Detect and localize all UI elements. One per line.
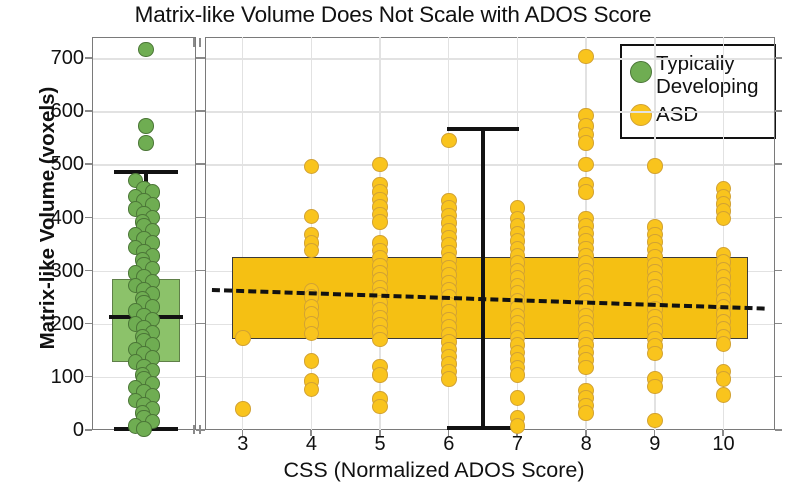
y-tick-label: 700: [22, 48, 84, 68]
gridline-horizontal: [205, 164, 775, 165]
chart-title: Matrix-like Volume Does Not Scale with A…: [0, 2, 786, 28]
x-tick-label: 3: [223, 434, 263, 454]
y-tick-mark: [198, 163, 205, 165]
data-point-asd: [372, 367, 388, 383]
data-point-asd: [304, 209, 320, 225]
data-point-td: [138, 118, 154, 134]
data-point-td: [138, 135, 154, 151]
data-point-asd: [304, 382, 320, 398]
data-point-asd: [441, 133, 457, 149]
y-tick-mark: [775, 110, 782, 112]
y-tick-mark: [198, 57, 205, 59]
y-tick-mark: [775, 163, 782, 165]
x-tick-label: 8: [566, 434, 606, 454]
legend-label: ASD: [656, 103, 698, 126]
y-tick-mark: [775, 217, 782, 219]
legend-swatch-yellow-icon: [630, 104, 652, 126]
data-point-asd: [578, 405, 594, 421]
gridline-horizontal: [205, 377, 775, 378]
y-tick-mark: [85, 110, 92, 112]
x-tick-label: 9: [635, 434, 675, 454]
x-tick-mark: [722, 430, 723, 436]
whisker-cap-asd: [447, 127, 519, 131]
y-tick-label: 200: [22, 314, 84, 334]
x-tick-mark: [654, 430, 655, 436]
gridline-horizontal: [92, 111, 196, 112]
gridline-vertical: [242, 37, 243, 430]
x-tick-label: 7: [497, 434, 537, 454]
y-tick-mark: [198, 376, 205, 378]
data-point-asd: [235, 330, 251, 346]
data-point-asd: [372, 157, 388, 173]
axis-break-mark: [199, 38, 201, 47]
data-point-asd: [372, 399, 388, 415]
y-tick-mark: [198, 217, 205, 219]
y-tick-mark: [775, 57, 782, 59]
y-tick-mark: [198, 270, 205, 272]
whisker-line-asd: [481, 129, 484, 429]
y-axis-tick-labels: 0100200300400500600700: [18, 0, 84, 495]
gridline-horizontal: [205, 218, 775, 219]
data-point-asd: [510, 418, 526, 434]
x-tick-label: 6: [429, 434, 469, 454]
y-tick-mark: [85, 270, 92, 272]
y-tick-label: 600: [22, 101, 84, 121]
data-point-asd: [647, 379, 663, 395]
y-tick-label: 100: [22, 367, 84, 387]
data-point-asd: [578, 157, 594, 173]
data-point-asd: [716, 371, 732, 387]
data-point-asd: [716, 336, 732, 352]
data-point-asd: [716, 387, 732, 403]
data-point-asd: [304, 243, 320, 259]
data-point-asd: [578, 360, 594, 376]
data-point-asd: [372, 332, 388, 348]
whisker-cap-td: [114, 170, 178, 174]
y-tick-mark: [198, 110, 205, 112]
data-point-asd: [372, 214, 388, 230]
axis-break-mark: [193, 38, 195, 47]
data-point-asd: [304, 159, 320, 175]
gridline-horizontal: [205, 111, 775, 112]
data-point-asd: [304, 326, 320, 342]
data-point-asd: [510, 390, 526, 406]
data-point-asd: [647, 413, 663, 429]
data-point-asd: [647, 158, 663, 174]
y-tick-label: 500: [22, 154, 84, 174]
whisker-cap-asd: [447, 426, 519, 430]
data-point-asd: [578, 49, 594, 65]
data-point-asd: [647, 346, 663, 362]
y-tick-mark: [85, 429, 92, 431]
data-point-asd: [716, 211, 732, 227]
gridline-horizontal: [92, 164, 196, 165]
y-tick-mark: [775, 270, 782, 272]
data-point-td: [136, 421, 152, 437]
chart-root: Matrix-like Volume Does Not Scale with A…: [0, 0, 786, 495]
y-tick-mark: [85, 217, 92, 219]
y-tick-mark: [85, 163, 92, 165]
y-tick-mark: [85, 323, 92, 325]
data-point-asd: [510, 367, 526, 383]
y-tick-mark: [85, 376, 92, 378]
gridline-horizontal: [205, 58, 775, 59]
data-point-asd: [235, 401, 251, 417]
data-point-asd: [304, 353, 320, 369]
x-tick-label: 4: [291, 434, 331, 454]
data-point-asd: [441, 371, 457, 387]
legend-item[interactable]: ASD: [630, 103, 698, 126]
y-tick-mark: [775, 323, 782, 325]
y-tick-label: 400: [22, 208, 84, 228]
data-point-asd: [578, 135, 594, 151]
x-tick-label: 10: [703, 434, 743, 454]
data-point-asd: [578, 184, 594, 200]
y-tick-mark: [775, 376, 782, 378]
x-tick-mark: [242, 430, 243, 436]
y-tick-mark: [775, 429, 782, 431]
axis-break-mark: [193, 425, 195, 434]
x-tick-mark: [448, 430, 449, 436]
x-tick-mark: [379, 430, 380, 436]
x-tick-mark: [310, 430, 311, 436]
legend-swatch-green-icon: [630, 61, 652, 83]
axis-break-mark: [199, 425, 201, 434]
y-tick-mark: [85, 57, 92, 59]
x-tick-mark: [585, 430, 586, 436]
gridline-horizontal: [92, 58, 196, 59]
data-point-td: [138, 42, 154, 58]
y-tick-mark: [198, 323, 205, 325]
y-tick-label: 300: [22, 261, 84, 281]
x-axis-label: CSS (Normalized ADOS Score): [92, 458, 776, 483]
x-tick-label: 5: [360, 434, 400, 454]
y-tick-label: 0: [22, 420, 84, 440]
